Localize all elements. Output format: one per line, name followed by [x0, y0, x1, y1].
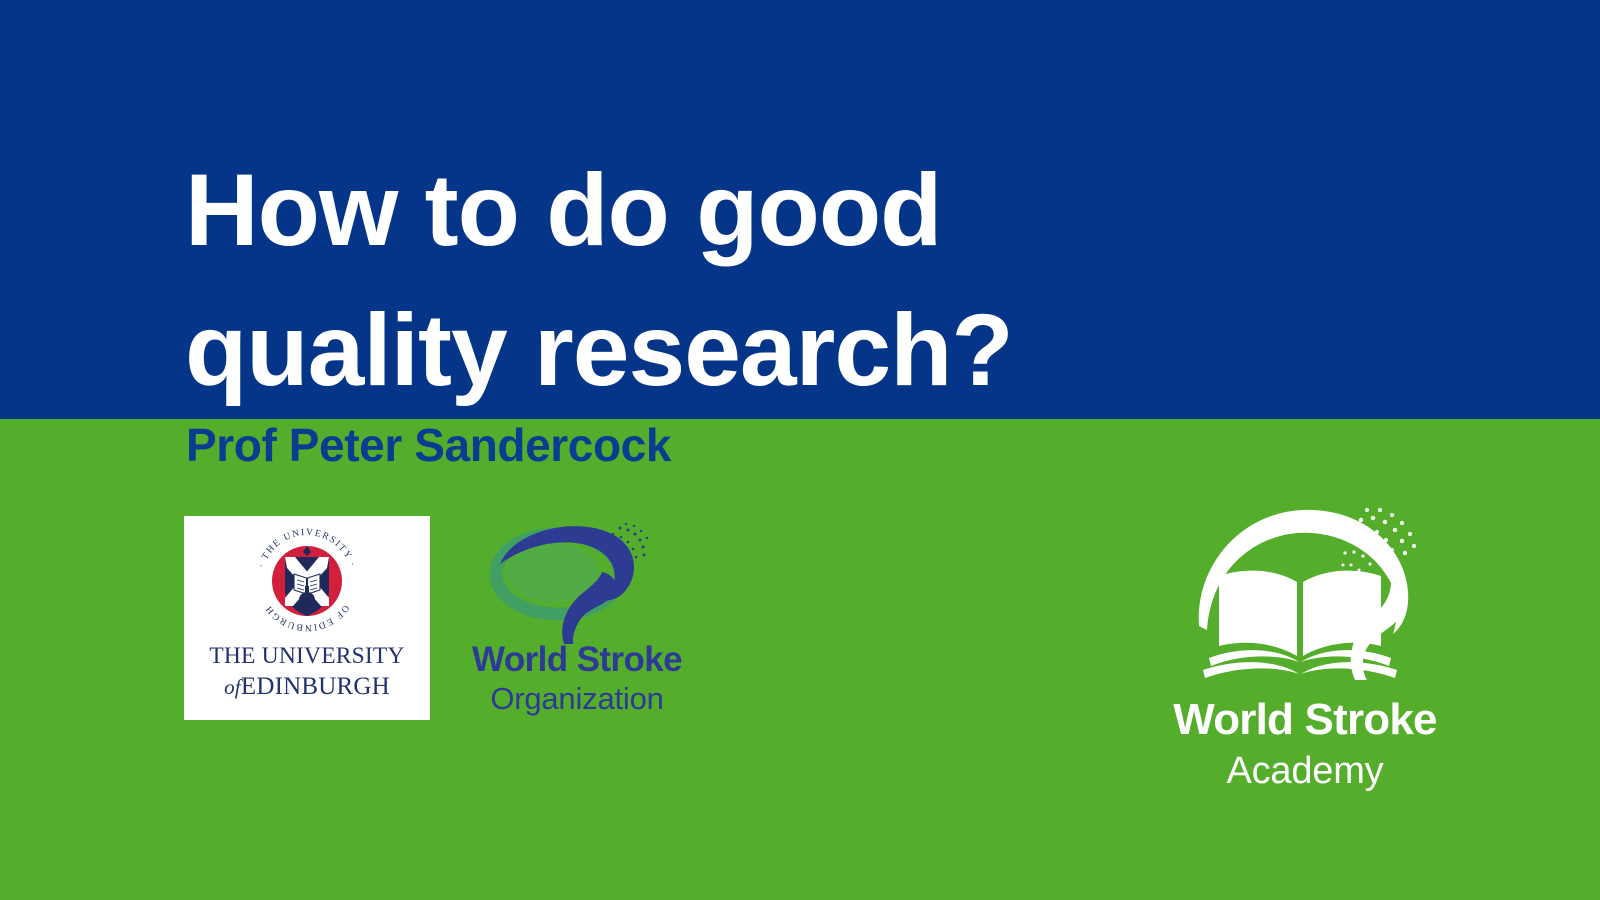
edinburgh-city-word: EDINBURGH: [241, 673, 390, 700]
presenter-name: Prof Peter Sandercock: [186, 415, 671, 475]
world-stroke-organization-wordmark: World Stroke Organization: [452, 640, 702, 718]
world-stroke-organization-logo: World Stroke Organization: [452, 512, 702, 704]
presentation-slide: How to do good quality research? Prof Pe…: [0, 0, 1600, 900]
world-stroke-academy-book-icon: [1185, 498, 1430, 693]
edinburgh-crest-icon: · THE UNIVERSITY · OF EDINBURGH: [251, 524, 363, 636]
university-of-edinburgh-logo: · THE UNIVERSITY · OF EDINBURGH: [184, 516, 430, 720]
world-stroke-academy-logo: World Stroke Academy: [1135, 498, 1475, 810]
wso-line-2: Organization: [452, 680, 702, 718]
wso-line-1: World Stroke: [452, 640, 702, 680]
edinburgh-line-1: THE UNIVERSITY: [184, 642, 430, 671]
wsa-line-2: Academy: [1135, 746, 1475, 796]
title-line-2: quality research?: [185, 280, 1245, 420]
title-line-1: How to do good: [185, 140, 1245, 280]
world-stroke-academy-wordmark: World Stroke Academy: [1135, 694, 1475, 796]
page-title: How to do good quality research?: [185, 140, 1245, 420]
wsa-line-1: World Stroke: [1135, 694, 1475, 746]
edinburgh-of-word: of: [224, 675, 241, 699]
world-stroke-organization-mark-icon: [480, 512, 660, 644]
edinburgh-line-2: ofEDINBURGH: [184, 671, 430, 702]
edinburgh-wordmark: THE UNIVERSITY ofEDINBURGH: [184, 642, 430, 702]
